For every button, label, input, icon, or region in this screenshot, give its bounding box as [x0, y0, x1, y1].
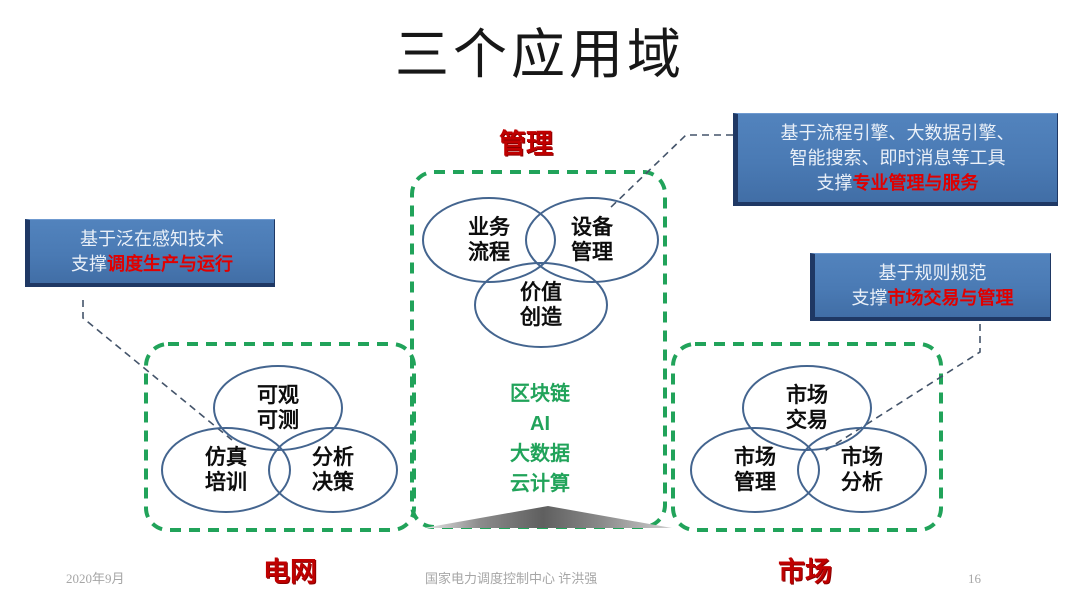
domain-label-grid: 电网 [230, 556, 350, 588]
bubble-text-line: 仿真 [181, 445, 271, 470]
bubble-text-line: 价值 [496, 280, 586, 305]
bubble-text-line: 设备 [547, 215, 637, 240]
tech-stack-item-blockchain: 区块链 [470, 379, 610, 409]
tech-stack-list: 区块链 AI 大数据 云计算 [470, 379, 610, 499]
callout-prefix: 支撑 [71, 254, 107, 274]
bubble-text-line: 分析 [817, 470, 907, 495]
bubble-text-line: 创造 [496, 305, 586, 330]
domain-label-market: 市场 [745, 556, 865, 588]
bubble-label-business-process: 业务 流程 [444, 215, 534, 265]
bubble-label-value-creation: 价值 创造 [496, 280, 586, 330]
bubble-label-analysis-decision: 分析 决策 [288, 445, 378, 495]
bubble-text-line: 业务 [444, 215, 534, 240]
tech-stack-item-bigdata: 大数据 [470, 439, 610, 469]
slide-canvas: 三个应用域 [0, 0, 1080, 608]
footer-organization: 国家电力调度控制中心 许洪强 [425, 570, 597, 587]
connector-line-left [83, 300, 232, 440]
bubble-text-line: 市场 [710, 445, 800, 470]
callout-management-tools[interactable]: 基于流程引擎、大数据引擎、 智能搜索、即时消息等工具 支撑专业管理与服务 [733, 113, 1058, 206]
bubble-text-line: 市场 [762, 383, 852, 408]
bubble-label-simulation-training: 仿真 培训 [181, 445, 271, 495]
bubble-label-market-analysis: 市场 分析 [817, 445, 907, 495]
pyramid-shape [424, 506, 672, 528]
callout-line: 支撑调度生产与运行 [38, 252, 266, 277]
bubble-text-line: 可观 [233, 383, 323, 408]
tech-stack-item-ai: AI [470, 409, 610, 439]
bubble-label-equipment-management: 设备 管理 [547, 215, 637, 265]
callout-line: 基于规则规范 [823, 261, 1042, 286]
callout-line: 智能搜索、即时消息等工具 [746, 146, 1049, 171]
footer-date: 2020年9月 [66, 570, 125, 587]
bubble-text-line: 流程 [444, 240, 534, 265]
bubble-text-line: 管理 [547, 240, 637, 265]
bubble-text-line: 分析 [288, 445, 378, 470]
callout-line: 支撑市场交易与管理 [823, 286, 1042, 311]
bubble-text-line: 决策 [288, 470, 378, 495]
callout-market-rules[interactable]: 基于规则规范 支撑市场交易与管理 [810, 253, 1051, 321]
bubble-text-line: 交易 [762, 408, 852, 433]
callout-line: 支撑专业管理与服务 [746, 171, 1049, 196]
bubble-text-line: 管理 [710, 470, 800, 495]
callout-highlight: 市场交易与管理 [888, 288, 1014, 308]
callout-grid-sensing[interactable]: 基于泛在感知技术 支撑调度生产与运行 [25, 219, 275, 287]
domain-label-manage: 管理 [466, 128, 586, 160]
bubble-label-market-management: 市场 管理 [710, 445, 800, 495]
callout-line: 基于泛在感知技术 [38, 227, 266, 252]
callout-line: 基于流程引擎、大数据引擎、 [746, 121, 1049, 146]
bubble-text-line: 培训 [181, 470, 271, 495]
tech-stack-item-cloud: 云计算 [470, 469, 610, 499]
callout-highlight: 专业管理与服务 [853, 173, 979, 193]
callout-prefix: 支撑 [852, 288, 888, 308]
bubble-label-observable-measurable: 可观 可测 [233, 383, 323, 433]
bubble-text-line: 市场 [817, 445, 907, 470]
footer-page-number: 16 [968, 570, 981, 587]
callout-highlight: 调度生产与运行 [107, 254, 233, 274]
callout-prefix: 支撑 [817, 173, 853, 193]
bubble-label-market-trading: 市场 交易 [762, 383, 852, 433]
bubble-text-line: 可测 [233, 408, 323, 433]
